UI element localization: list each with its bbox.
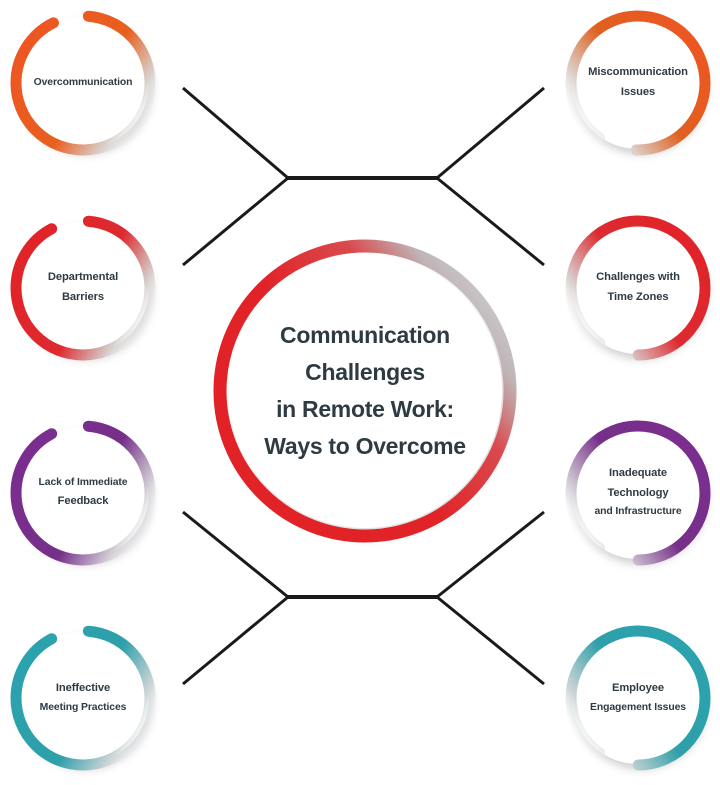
node-label: Inadequate Technology and Infrastructure [572, 427, 704, 559]
node-label: Miscommunication Issues [572, 17, 704, 149]
node-challenges-with-time-zones[interactable]: Challenges with Time Zones [563, 213, 713, 363]
node-label: Departmental Barriers [17, 222, 149, 354]
connector-bottom-left-lower [183, 597, 288, 684]
node-ineffective-meeting-practices[interactable]: Ineffective Meeting Practices [8, 623, 158, 773]
node-departmental-barriers[interactable]: Departmental Barriers [8, 213, 158, 363]
node-overcommunication[interactable]: Overcommunication [8, 8, 158, 158]
node-employee-engagement-issues[interactable]: Employee Engagement Issues [563, 623, 713, 773]
connector-top-right-upper [437, 88, 544, 178]
center-title: Communication Challenges in Remote Work:… [228, 254, 502, 528]
node-label: Ineffective Meeting Practices [17, 632, 149, 764]
connector-bottom-right-lower [437, 597, 544, 684]
diagram-canvas: Overcommunication Miscommunication Issue… [0, 0, 720, 785]
connector-top-left-upper [183, 88, 288, 178]
node-label: Challenges with Time Zones [572, 222, 704, 354]
center-hub[interactable]: Communication Challenges in Remote Work:… [212, 238, 518, 544]
node-lack-of-immediate-feedback[interactable]: Lack of Immediate Feedback [8, 418, 158, 568]
node-miscommunication[interactable]: Miscommunication Issues [563, 8, 713, 158]
node-label: Employee Engagement Issues [572, 632, 704, 764]
node-label: Overcommunication [17, 17, 149, 149]
node-inadequate-technology-and-infrastructure[interactable]: Inadequate Technology and Infrastructure [563, 418, 713, 568]
node-label: Lack of Immediate Feedback [17, 427, 149, 559]
